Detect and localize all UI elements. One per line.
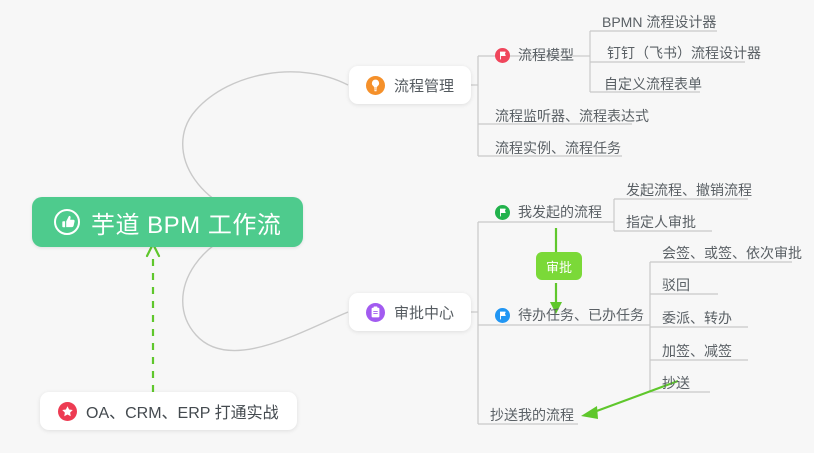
node-label: 会签、或签、依次审批 (662, 243, 802, 263)
node-add-remove-sign[interactable]: 加签、减签 (656, 339, 738, 365)
lightbulb-icon (366, 76, 385, 95)
node-process-model[interactable]: 流程模型 (489, 43, 580, 69)
node-label: 我发起的流程 (518, 202, 602, 222)
node-label: 流程实例、流程任务 (495, 138, 621, 158)
root-label: 芋道 BPM 工作流 (91, 205, 281, 240)
mindmap-canvas: 芋道 BPM 工作流 流程管理 流程模型 BPMN 流程设计器 钉钉（飞书）流程… (0, 0, 814, 453)
node-label: 流程监听器、流程表达式 (495, 106, 649, 126)
callout-label: OA、CRM、ERP 打通实战 (86, 399, 279, 423)
thumbs-up-icon (54, 209, 80, 235)
node-label: 待办任务、已办任务 (518, 305, 644, 325)
node-my-started-process[interactable]: 我发起的流程 (489, 200, 608, 226)
approval-badge-label: 审批 (546, 257, 572, 276)
node-delegate-transfer[interactable]: 委派、转办 (656, 306, 738, 332)
approval-badge: 审批 (536, 252, 582, 280)
branch-approval-center[interactable]: 审批中心 (349, 293, 471, 331)
flag-icon (495, 48, 510, 65)
node-label: 抄送我的流程 (490, 405, 574, 425)
node-todo-done-tasks[interactable]: 待办任务、已办任务 (489, 303, 650, 329)
node-custom-form[interactable]: 自定义流程表单 (598, 72, 708, 98)
node-cc[interactable]: 抄送 (656, 371, 696, 397)
root-node[interactable]: 芋道 BPM 工作流 (32, 197, 303, 247)
clipboard-icon (366, 303, 385, 322)
node-assigned-approval[interactable]: 指定人审批 (620, 210, 702, 236)
node-label: 加签、减签 (662, 341, 732, 361)
node-cc-my-process[interactable]: 抄送我的流程 (484, 403, 580, 429)
callout-node-oa-crm-erp[interactable]: OA、CRM、ERP 打通实战 (40, 392, 297, 430)
node-process-listener[interactable]: 流程监听器、流程表达式 (489, 104, 655, 130)
node-reject[interactable]: 驳回 (656, 273, 696, 299)
node-label: 委派、转办 (662, 308, 732, 328)
node-label: 驳回 (662, 275, 690, 295)
branch-label: 流程管理 (394, 75, 454, 96)
node-dingtalk-designer[interactable]: 钉钉（飞书）流程设计器 (601, 41, 767, 67)
flag-icon (495, 308, 510, 325)
star-icon (58, 402, 77, 421)
node-label: BPMN 流程设计器 (602, 12, 716, 32)
branch-process-management[interactable]: 流程管理 (349, 66, 471, 104)
node-label: 自定义流程表单 (604, 74, 702, 94)
node-label: 流程模型 (518, 45, 574, 65)
node-label: 发起流程、撤销流程 (626, 180, 752, 200)
node-label: 钉钉（飞书）流程设计器 (607, 43, 761, 63)
node-bpmn-designer[interactable]: BPMN 流程设计器 (596, 10, 722, 36)
node-process-instance[interactable]: 流程实例、流程任务 (489, 136, 627, 162)
flag-icon (495, 205, 510, 222)
node-label: 指定人审批 (626, 212, 696, 232)
node-label: 抄送 (662, 373, 690, 393)
cc-arrowhead-icon (581, 406, 598, 419)
branch-label: 审批中心 (394, 302, 454, 323)
node-start-cancel-process[interactable]: 发起流程、撤销流程 (620, 178, 758, 204)
node-countersign[interactable]: 会签、或签、依次审批 (656, 241, 808, 267)
